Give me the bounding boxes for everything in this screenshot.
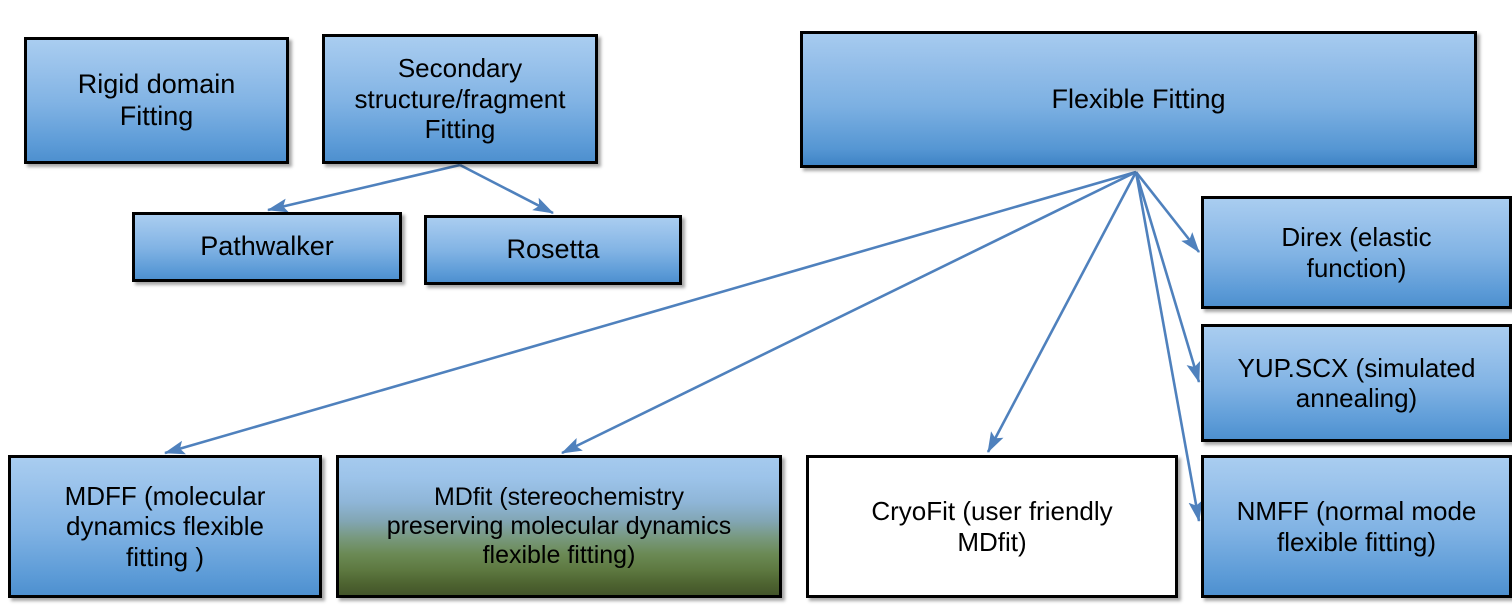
edge-secondary-to-rosetta bbox=[460, 165, 553, 213]
node-label-pathwalker: Pathwalker bbox=[143, 231, 391, 263]
node-label-flexible-fitting: Flexible Fitting bbox=[811, 84, 1466, 116]
edge-flexible-to-cryofit bbox=[988, 172, 1136, 452]
node-pathwalker[interactable]: Pathwalker bbox=[132, 212, 402, 282]
node-nmff[interactable]: NMFF (normal mode flexible fitting) bbox=[1201, 455, 1512, 598]
edge-flexible-to-yupscx bbox=[1136, 172, 1199, 382]
node-label-cryofit: CryoFit (user friendly MDfit) bbox=[817, 496, 1167, 557]
diagram-canvas: Rigid domain FittingSecondary structure/… bbox=[0, 0, 1512, 610]
node-secondary-structure-fitting[interactable]: Secondary structure/fragment Fitting bbox=[322, 34, 598, 164]
node-mdfit[interactable]: MDfit (stereochemistry preserving molecu… bbox=[336, 455, 782, 598]
node-label-rigid-domain-fitting: Rigid domain Fitting bbox=[35, 69, 278, 132]
node-mdff[interactable]: MDFF (molecular dynamics flexible fittin… bbox=[8, 455, 322, 598]
node-cryofit[interactable]: CryoFit (user friendly MDfit) bbox=[806, 455, 1178, 598]
node-rosetta[interactable]: Rosetta bbox=[424, 215, 682, 285]
edge-flexible-to-direx bbox=[1136, 172, 1199, 252]
node-label-yup-scx: YUP.SCX (simulated annealing) bbox=[1212, 353, 1501, 414]
node-yup-scx[interactable]: YUP.SCX (simulated annealing) bbox=[1201, 324, 1512, 442]
node-label-secondary-structure-fitting: Secondary structure/fragment Fitting bbox=[333, 53, 587, 144]
edge-secondary-to-pathwalker bbox=[268, 165, 460, 210]
node-label-nmff: NMFF (normal mode flexible fitting) bbox=[1212, 496, 1501, 557]
node-label-mdfit: MDfit (stereochemistry preserving molecu… bbox=[347, 483, 771, 571]
node-label-mdff: MDFF (molecular dynamics flexible fittin… bbox=[19, 481, 311, 572]
node-rigid-domain-fitting[interactable]: Rigid domain Fitting bbox=[24, 37, 289, 164]
node-label-rosetta: Rosetta bbox=[435, 234, 671, 266]
node-direx[interactable]: Direx (elastic function) bbox=[1201, 196, 1512, 309]
node-flexible-fitting[interactable]: Flexible Fitting bbox=[800, 31, 1477, 168]
node-label-direx: Direx (elastic function) bbox=[1212, 222, 1501, 283]
